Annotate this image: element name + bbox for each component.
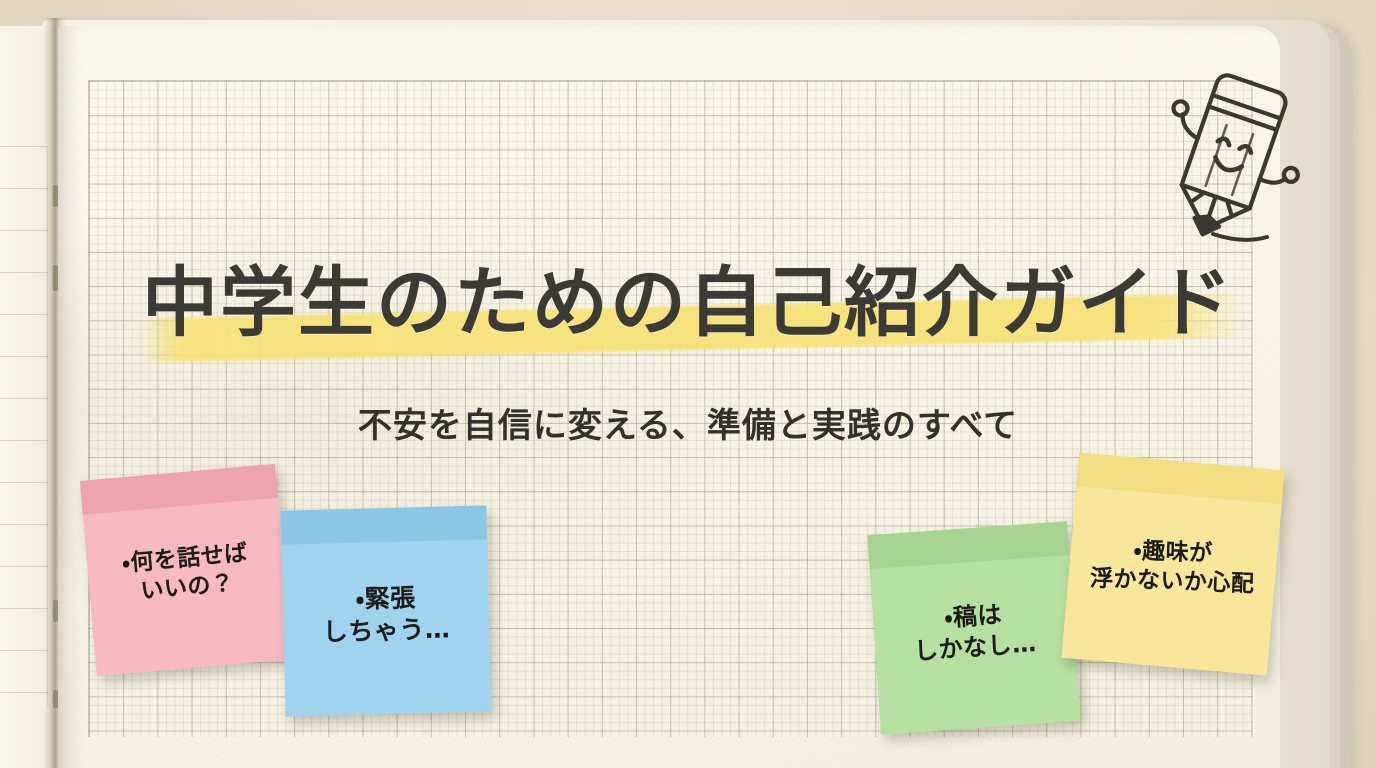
sticky-note-text: ・趣味が 浮かないか心配 [1079,535,1267,600]
page-title: 中学生のための自己紹介ガイド [0,262,1376,344]
sticky-note-strip [280,505,487,544]
page-subtitle: 不安を自信に変える、準備と実践のすべて [0,398,1376,447]
pencil-mascot-icon [1155,58,1305,253]
sticky-note-pink[interactable]: ・何を話せば いいの？ [80,464,292,676]
sticky-note-yellow[interactable]: ・趣味が 浮かないか心配 [1061,452,1284,675]
sticky-note-text: ・何を話せば いいの？ [96,537,276,611]
sticky-note-green[interactable]: ・稿は しかなし… [867,521,1080,734]
sticky-note-blue[interactable]: ・緊張 しちゃう… [280,505,491,716]
title-block: 中学生のための自己紹介ガイド [0,262,1376,392]
slide-canvas: 中学生のための自己紹介ガイド 不安を自信に変える、準備と実践のすべて ・何を話せ… [0,0,1376,768]
sticky-note-text: ・稿は しかなし… [882,595,1066,669]
sticky-note-text: ・緊張 しちゃう… [292,581,480,650]
